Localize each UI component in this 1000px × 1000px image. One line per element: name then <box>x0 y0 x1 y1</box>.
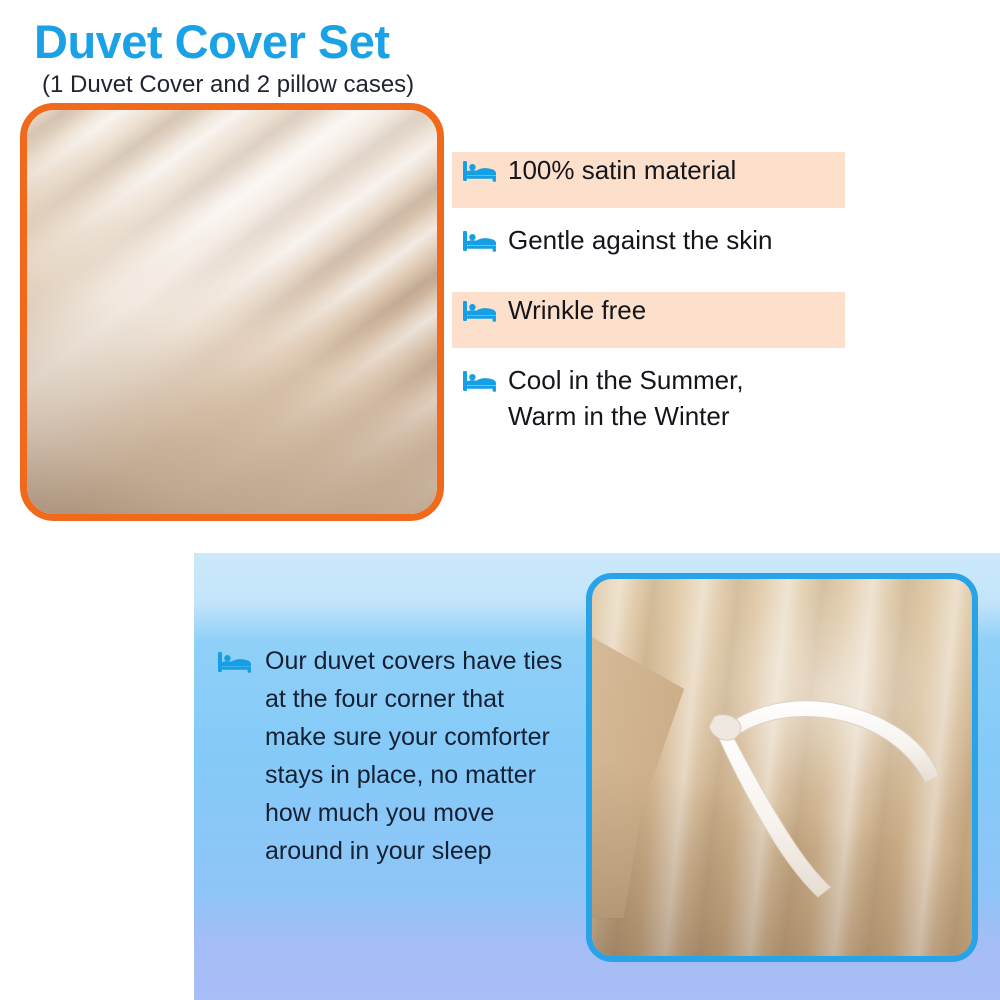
feature-item-2: Wrinkle free <box>452 292 845 348</box>
bed-icon <box>463 369 497 393</box>
ribbon-tie-upper <box>728 701 939 783</box>
page-title: Duvet Cover Set <box>34 14 594 70</box>
satin-fabric-photo <box>20 103 444 521</box>
feature-item-3: Cool in the Summer, Warm in the Winter <box>452 362 845 454</box>
feature-label-3: Cool in the Summer, Warm in the Winter <box>508 362 744 434</box>
white-ribbon-ties <box>592 579 972 956</box>
page-subtitle: (1 Duvet Cover and 2 pillow cases) <box>42 70 602 100</box>
feature-label-1: Gentle against the skin <box>508 222 773 258</box>
infographic-page: Duvet Cover Set (1 Duvet Cover and 2 pil… <box>0 0 1000 1000</box>
tie-description: Our duvet covers have ties at the four c… <box>218 642 578 870</box>
duvet-tie-photo <box>586 573 978 962</box>
tie-description-text: Our duvet covers have ties at the four c… <box>265 642 565 870</box>
feature-item-1: Gentle against the skin <box>452 222 845 278</box>
bed-icon <box>463 299 497 323</box>
bed-icon <box>218 650 252 674</box>
feature-item-0: 100% satin material <box>452 152 845 208</box>
fabric-vignette <box>27 110 437 514</box>
ribbon-knot <box>709 715 741 741</box>
bed-icon <box>463 159 497 183</box>
feature-label-0: 100% satin material <box>508 152 736 188</box>
ribbon-tie-lower <box>716 726 830 897</box>
feature-label-2: Wrinkle free <box>508 292 646 328</box>
bed-icon <box>463 229 497 253</box>
